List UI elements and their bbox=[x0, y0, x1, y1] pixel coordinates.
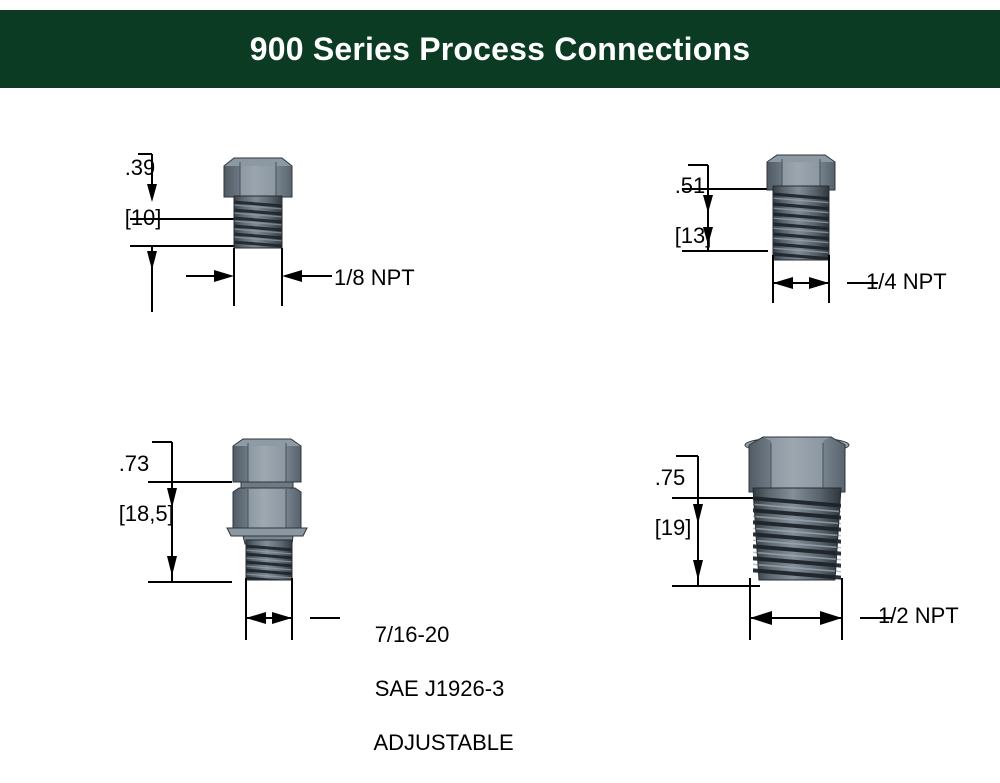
callout-line-standard: SAE J1926-3 bbox=[375, 676, 505, 701]
callout-line-thread: 7/16-20 bbox=[375, 622, 450, 647]
figure-7-16-20-sae: .73 [18,5] bbox=[0, 330, 540, 694]
fitting-graphic-1-2-npt bbox=[735, 430, 885, 600]
callout-label-7-16-20-sae: 7/16-20 SAE J1926-3 ADJUSTABLE bbox=[338, 594, 514, 783]
figure-1-8-npt: .39 [10] bbox=[0, 0, 500, 330]
figure-1-2-npt: .75 [19] bbox=[540, 330, 1000, 694]
callout-label-1-2-npt: 1/2 NPT bbox=[878, 602, 959, 629]
callout-label-1-4-npt: 1/4 NPT bbox=[866, 268, 947, 295]
callout-label-1-8-npt: 1/8 NPT bbox=[334, 264, 415, 291]
diagram-canvas: 900 Series Process Connections .39 [10] bbox=[0, 0, 1000, 694]
fitting-graphic-7-16-20-sae bbox=[215, 432, 345, 592]
figure-1-4-npt: .51 [13] bbox=[500, 0, 1000, 330]
callout-line-adjustable: ADJUSTABLE bbox=[373, 730, 513, 755]
width-dimension-1-8-npt bbox=[150, 248, 480, 318]
dimension-inch-value: .73 bbox=[119, 451, 150, 476]
